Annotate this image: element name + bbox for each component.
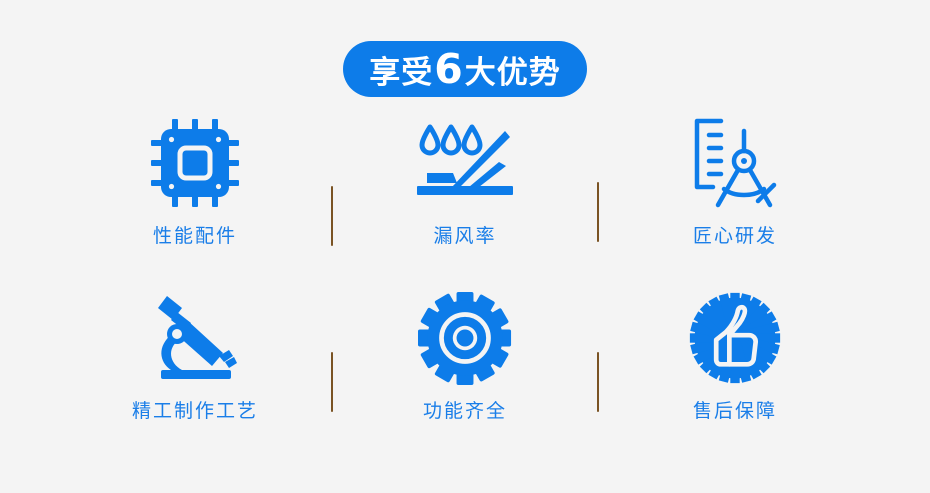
feature-label: 漏风率 [433,221,496,248]
thumbs-up-badge-icon [688,291,782,385]
column-divider [331,186,333,246]
feature-label: 售后保障 [693,396,777,423]
icon-container [147,286,243,390]
badge-prefix: 享受 [369,58,433,89]
badge-suffix: 大优势 [465,58,561,89]
water-repellent-icon [413,117,517,209]
feature-label: 功能齐全 [423,396,507,423]
header-section: 享受 6 大优势 [0,0,930,97]
advantages-badge: 享受 6 大优势 [343,41,587,97]
feature-item-full-function: 功能齐全 [330,286,600,461]
icon-container [418,286,512,390]
feature-label: 性能配件 [153,221,237,248]
compass-ruler-icon [688,115,782,211]
feature-label: 匠心研发 [693,221,777,248]
column-divider [597,182,599,242]
feature-item-air-leakage: 漏风率 [330,111,600,286]
column-divider [597,352,599,412]
icon-container [413,111,517,215]
microscope-icon [147,290,243,386]
badge-text: 享受 6 大优势 [369,49,561,90]
feature-label: 精工制作工艺 [132,396,258,423]
icon-container [688,111,782,215]
feature-item-craftsmanship: 精工制作工艺 [60,286,330,461]
gear-icon [418,291,512,385]
feature-item-after-sales: 售后保障 [600,286,870,461]
feature-item-performance-parts: 性能配件 [60,111,330,286]
column-divider [331,352,333,412]
feature-item-rnd: 匠心研发 [600,111,870,286]
icon-container [688,286,782,390]
icon-container [147,111,243,215]
cpu-chip-icon [147,115,243,211]
badge-number: 6 [433,49,465,90]
features-grid: 性能配件 漏风率 [60,111,870,461]
